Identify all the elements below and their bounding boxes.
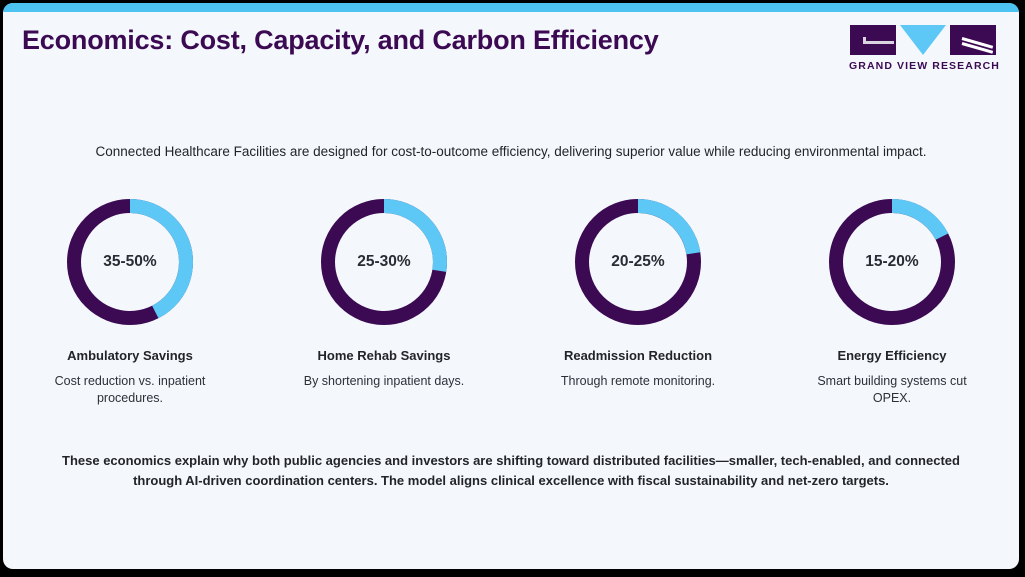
metric-card: 20-25% Readmission Reduction Through rem… xyxy=(511,199,765,407)
slide-header: Economics: Cost, Capacity, and Carbon Ef… xyxy=(3,12,1019,90)
donut-chart: 25-30% xyxy=(321,199,447,325)
metric-description: Smart building systems cut OPEX. xyxy=(800,373,985,407)
metric-label: Home Rehab Savings xyxy=(318,348,451,363)
slide-card: Economics: Cost, Capacity, and Carbon Ef… xyxy=(3,3,1019,569)
metric-label: Ambulatory Savings xyxy=(67,348,193,363)
donut-chart: 20-25% xyxy=(575,199,701,325)
metrics-row: 35-50% Ambulatory Savings Cost reduction… xyxy=(3,199,1019,407)
logo-g-mark-icon xyxy=(850,25,896,55)
donut-value-label: 20-25% xyxy=(575,199,701,325)
metric-label: Energy Efficiency xyxy=(837,348,946,363)
donut-value-label: 35-50% xyxy=(67,199,193,325)
metric-card: 25-30% Home Rehab Savings By shortening … xyxy=(257,199,511,407)
donut-value-label: 25-30% xyxy=(321,199,447,325)
logo-wordmark: GRAND VIEW RESEARCH xyxy=(849,60,997,72)
metric-description: By shortening inpatient days. xyxy=(304,373,465,390)
logo-marks xyxy=(849,24,997,56)
page-title: Economics: Cost, Capacity, and Carbon Ef… xyxy=(22,25,659,56)
metric-description: Cost reduction vs. inpatient procedures. xyxy=(38,373,223,407)
metric-card: 15-20% Energy Efficiency Smart building … xyxy=(765,199,1019,407)
logo-r-mark-icon xyxy=(950,25,996,55)
donut-value-label: 15-20% xyxy=(829,199,955,325)
brand-logo: GRAND VIEW RESEARCH xyxy=(849,24,997,72)
footer-note: These economics explain why both public … xyxy=(53,451,969,490)
top-accent-bar xyxy=(3,3,1019,12)
logo-v-triangle-icon xyxy=(900,25,946,55)
donut-chart: 15-20% xyxy=(829,199,955,325)
intro-text: Connected Healthcare Facilities are desi… xyxy=(3,144,1019,159)
metric-card: 35-50% Ambulatory Savings Cost reduction… xyxy=(3,199,257,407)
metric-label: Readmission Reduction xyxy=(564,348,712,363)
donut-chart: 35-50% xyxy=(67,199,193,325)
metric-description: Through remote monitoring. xyxy=(561,373,715,390)
